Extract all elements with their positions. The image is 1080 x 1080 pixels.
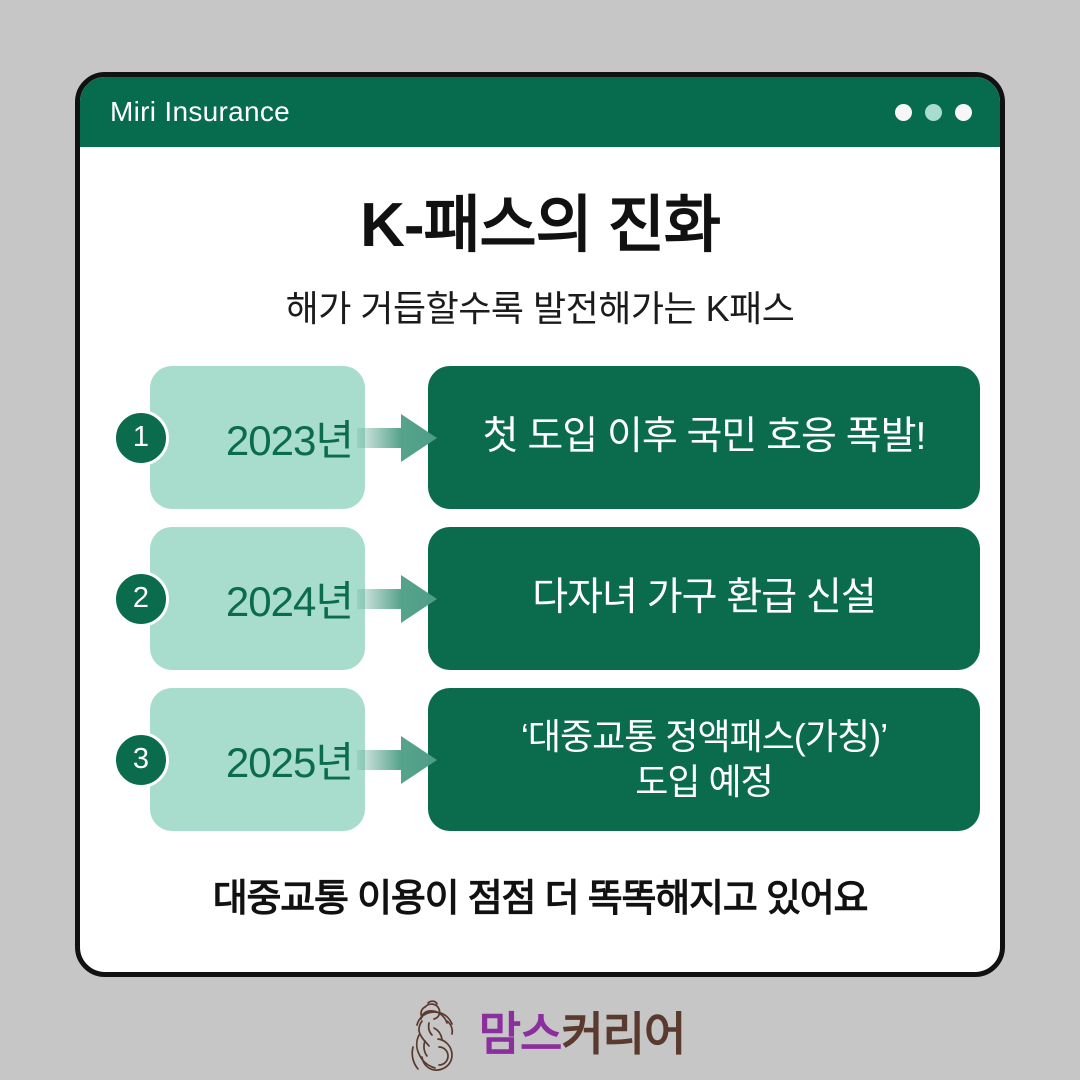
brand-logo: 맘스커리어	[0, 988, 1080, 1080]
year-chip: 2025년	[150, 688, 365, 831]
year-chip: 2024년	[150, 527, 365, 670]
page-title: K-패스의 진화	[80, 193, 1000, 258]
page-subtitle: 해가 거듭할수록 발전해가는 K패스	[80, 280, 1000, 332]
brand-title: Miri Insurance	[110, 96, 290, 128]
detail-text: 다자녀 가구 환급 신설	[532, 574, 875, 622]
footer-note: 대중교통 이용이 점점 더 똑똑해지고 있어요	[80, 867, 1000, 922]
step-number-badge: 3	[113, 732, 169, 788]
window-dot-white-2[interactable]	[955, 104, 972, 121]
card-body: K-패스의 진화 해가 거듭할수록 발전해가는 K패스 2023년1첫 도입 이…	[80, 193, 1000, 977]
window-dots	[895, 104, 972, 121]
arrow-right-icon	[357, 734, 437, 786]
window-dot-white-1[interactable]	[895, 104, 912, 121]
year-label: 2023년	[226, 407, 353, 468]
detail-box: ‘대중교통 정액패스(가칭)’ 도입 예정	[428, 688, 980, 831]
browser-card: Miri Insurance K-패스의 진화 해가 거듭할수록 발전해가는 K…	[75, 72, 1005, 977]
detail-text: ‘대중교통 정액패스(가칭)’ 도입 예정	[521, 715, 887, 804]
mother-and-baby-icon	[395, 995, 473, 1073]
logo-word-brown: 커리어	[561, 1008, 685, 1060]
step-number-badge: 2	[113, 571, 169, 627]
timeline-row: 2023년1첫 도입 이후 국민 호응 폭발!	[80, 366, 1000, 509]
logo-word-purple: 맘스	[479, 1008, 562, 1060]
window-dot-mint[interactable]	[925, 104, 942, 121]
title-bar: Miri Insurance	[80, 77, 1000, 147]
year-label: 2024년	[226, 568, 353, 629]
step-number-badge: 1	[113, 410, 169, 466]
timeline-list: 2023년1첫 도입 이후 국민 호응 폭발!2024년2다자녀 가구 환급 신…	[80, 366, 1000, 831]
timeline-row: 2025년3‘대중교통 정액패스(가칭)’ 도입 예정	[80, 688, 1000, 831]
arrow-right-icon	[357, 573, 437, 625]
timeline-row: 2024년2다자녀 가구 환급 신설	[80, 527, 1000, 670]
detail-box: 첫 도입 이후 국민 호응 폭발!	[428, 366, 980, 509]
year-label: 2025년	[226, 729, 353, 790]
detail-text: 첫 도입 이후 국민 호응 폭발!	[483, 413, 926, 461]
detail-box: 다자녀 가구 환급 신설	[428, 527, 980, 670]
arrow-right-icon	[357, 412, 437, 464]
year-chip: 2023년	[150, 366, 365, 509]
logo-wordmark: 맘스커리어	[479, 1011, 686, 1057]
